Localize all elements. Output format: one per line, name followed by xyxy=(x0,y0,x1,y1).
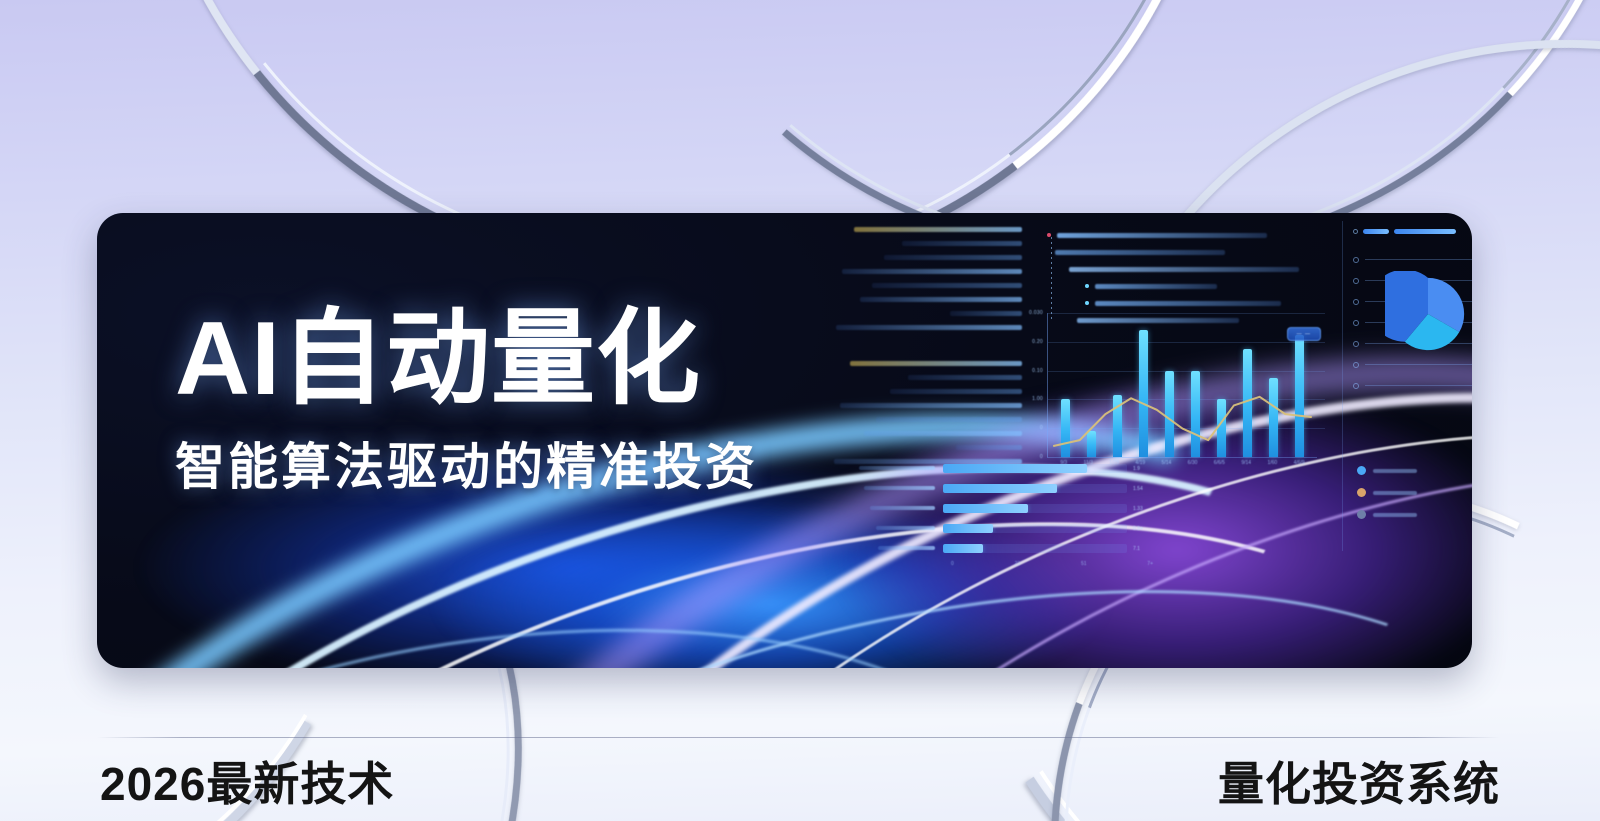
code-text-line xyxy=(1055,250,1225,255)
code-text-line xyxy=(1095,301,1281,306)
log-line xyxy=(956,445,1022,450)
progress-row: 7.1 xyxy=(823,543,1153,554)
progress-track xyxy=(943,484,1127,493)
footer-right-label: 量化投资系统 xyxy=(1218,748,1500,814)
progress-label xyxy=(823,546,943,552)
y-axis-tick: 0 xyxy=(1040,425,1043,431)
panel-pill xyxy=(1363,229,1389,234)
y-axis-tick: 0.10 xyxy=(1032,368,1043,374)
progress-fill xyxy=(943,524,993,533)
side-panel xyxy=(1342,221,1472,551)
log-line xyxy=(864,431,1022,436)
log-line xyxy=(950,311,1022,316)
progress-label xyxy=(823,466,943,472)
progress-fill xyxy=(943,544,983,553)
footer-left-label: 2026最新技术 xyxy=(100,748,394,814)
hero-title: AI自动量化 xyxy=(175,305,758,413)
progress-label xyxy=(823,526,943,532)
log-line xyxy=(860,297,1022,302)
log-line xyxy=(827,339,1022,361)
progress-row: 1.33 xyxy=(823,503,1153,514)
log-line xyxy=(872,283,1022,288)
progress-track xyxy=(943,524,1127,533)
x-axis-label: 9/14 xyxy=(1241,460,1251,466)
panel-pill xyxy=(1394,229,1456,234)
panel-row-icon xyxy=(1353,299,1359,305)
legend-item xyxy=(1357,466,1417,475)
progress-row: 0.9+ xyxy=(823,523,1153,534)
x-axis-label: 6/6/5 xyxy=(1214,460,1225,466)
legend-item xyxy=(1357,488,1417,497)
dashboard-graphic: 0.030 0.20 0.10 1.00 0 0 — — 9/311/31/29… xyxy=(797,213,1472,668)
legend-label xyxy=(1373,513,1417,517)
trend-line-icon xyxy=(1048,313,1317,457)
log-line xyxy=(890,389,1022,394)
log-line xyxy=(850,361,1022,366)
progress-row: 1.54 xyxy=(823,483,1153,494)
code-tree-guide xyxy=(1051,237,1052,319)
y-axis-tick: 0.030 xyxy=(1029,310,1043,316)
progress-value: 0.9+ xyxy=(1127,526,1153,532)
legend-item xyxy=(1357,510,1417,519)
axis-tick: 0 xyxy=(951,561,954,567)
log-line xyxy=(908,375,1022,380)
pie-legend xyxy=(1357,466,1417,532)
x-axis-label: 5/14 xyxy=(1162,460,1172,466)
log-line xyxy=(902,241,1022,246)
panel-row-line xyxy=(1365,385,1472,386)
panel-row xyxy=(1353,255,1472,264)
progress-value: 1.54 xyxy=(1127,486,1153,492)
progress-value: 7.1 xyxy=(1127,546,1153,552)
chart-tooltip-chip: — — xyxy=(1287,327,1321,341)
legend-label xyxy=(1373,469,1417,473)
hero-text-block: AI自动量化 智能算法驱动的精准投资 xyxy=(175,305,758,499)
progress-label xyxy=(823,486,943,492)
code-bullet-icon xyxy=(1085,284,1089,288)
progress-fill xyxy=(943,504,1028,513)
x-axis-label: 4/6/9 xyxy=(1294,460,1305,466)
code-row xyxy=(1047,297,1317,309)
side-panel-header xyxy=(1343,221,1472,234)
progress-fill xyxy=(943,484,1057,493)
progress-track xyxy=(943,544,1127,553)
code-row xyxy=(1047,263,1317,275)
panel-row-icon xyxy=(1353,383,1359,389)
log-line xyxy=(842,269,1022,274)
horizontal-bar-chart: 1.91.541.330.9+7.1 023517+ xyxy=(823,463,1153,567)
progress-fill xyxy=(943,464,1087,473)
code-text-line xyxy=(1095,284,1217,289)
code-row xyxy=(1047,229,1317,241)
code-text-line xyxy=(1057,233,1267,238)
code-row xyxy=(1047,280,1317,292)
panel-row-icon xyxy=(1353,320,1359,326)
x-axis-label: 1/60 xyxy=(1267,460,1277,466)
panel-row-line xyxy=(1365,259,1472,260)
footer-divider xyxy=(97,737,1500,738)
progress-track xyxy=(943,504,1127,513)
progress-track xyxy=(943,464,1127,473)
panel-dot-icon xyxy=(1353,229,1358,234)
panel-row-icon xyxy=(1353,362,1359,368)
horizontal-bar-axis: 023517+ xyxy=(823,561,1153,567)
panel-row xyxy=(1353,381,1472,390)
log-line xyxy=(884,255,1022,260)
progress-label xyxy=(823,506,943,512)
panel-row-icon xyxy=(1353,341,1359,347)
code-bullet-icon xyxy=(1085,301,1089,305)
axis-tick: 51 xyxy=(1081,561,1087,567)
code-text-line xyxy=(1069,267,1299,272)
bar-chart: 0.030 0.20 0.10 1.00 0 0 — — 9/311/31/29… xyxy=(1047,313,1317,458)
code-row xyxy=(1047,246,1317,258)
legend-color-swatch xyxy=(1357,510,1366,519)
progress-value: 1.33 xyxy=(1127,506,1153,512)
log-line xyxy=(840,403,1022,408)
hero-subtitle: 智能算法驱动的精准投资 xyxy=(175,427,758,499)
legend-color-swatch xyxy=(1357,466,1366,475)
panel-row-icon xyxy=(1353,257,1359,263)
log-line xyxy=(854,227,1022,232)
pie-chart-icon xyxy=(1385,271,1471,357)
legend-label xyxy=(1373,491,1417,495)
log-lines-column xyxy=(827,227,1022,473)
panel-row-line xyxy=(1365,364,1472,365)
x-axis-label: 6/30 xyxy=(1188,460,1198,466)
progress-value: 1.9 xyxy=(1127,466,1153,472)
panel-row xyxy=(1353,360,1472,369)
y-axis-tick: 1.00 xyxy=(1032,396,1043,402)
y-axis-tick: 0.20 xyxy=(1032,339,1043,345)
log-line xyxy=(836,325,1022,330)
progress-row: 1.9 xyxy=(823,463,1153,474)
log-line xyxy=(876,417,1022,422)
panel-row-icon xyxy=(1353,278,1359,284)
legend-color-swatch xyxy=(1357,488,1366,497)
axis-tick: 23 xyxy=(1015,561,1021,567)
hero-banner-card: 0.030 0.20 0.10 1.00 0 0 — — 9/311/31/29… xyxy=(97,213,1472,668)
y-axis-tick: 0 xyxy=(1040,454,1043,460)
axis-tick: 7+ xyxy=(1147,561,1153,567)
